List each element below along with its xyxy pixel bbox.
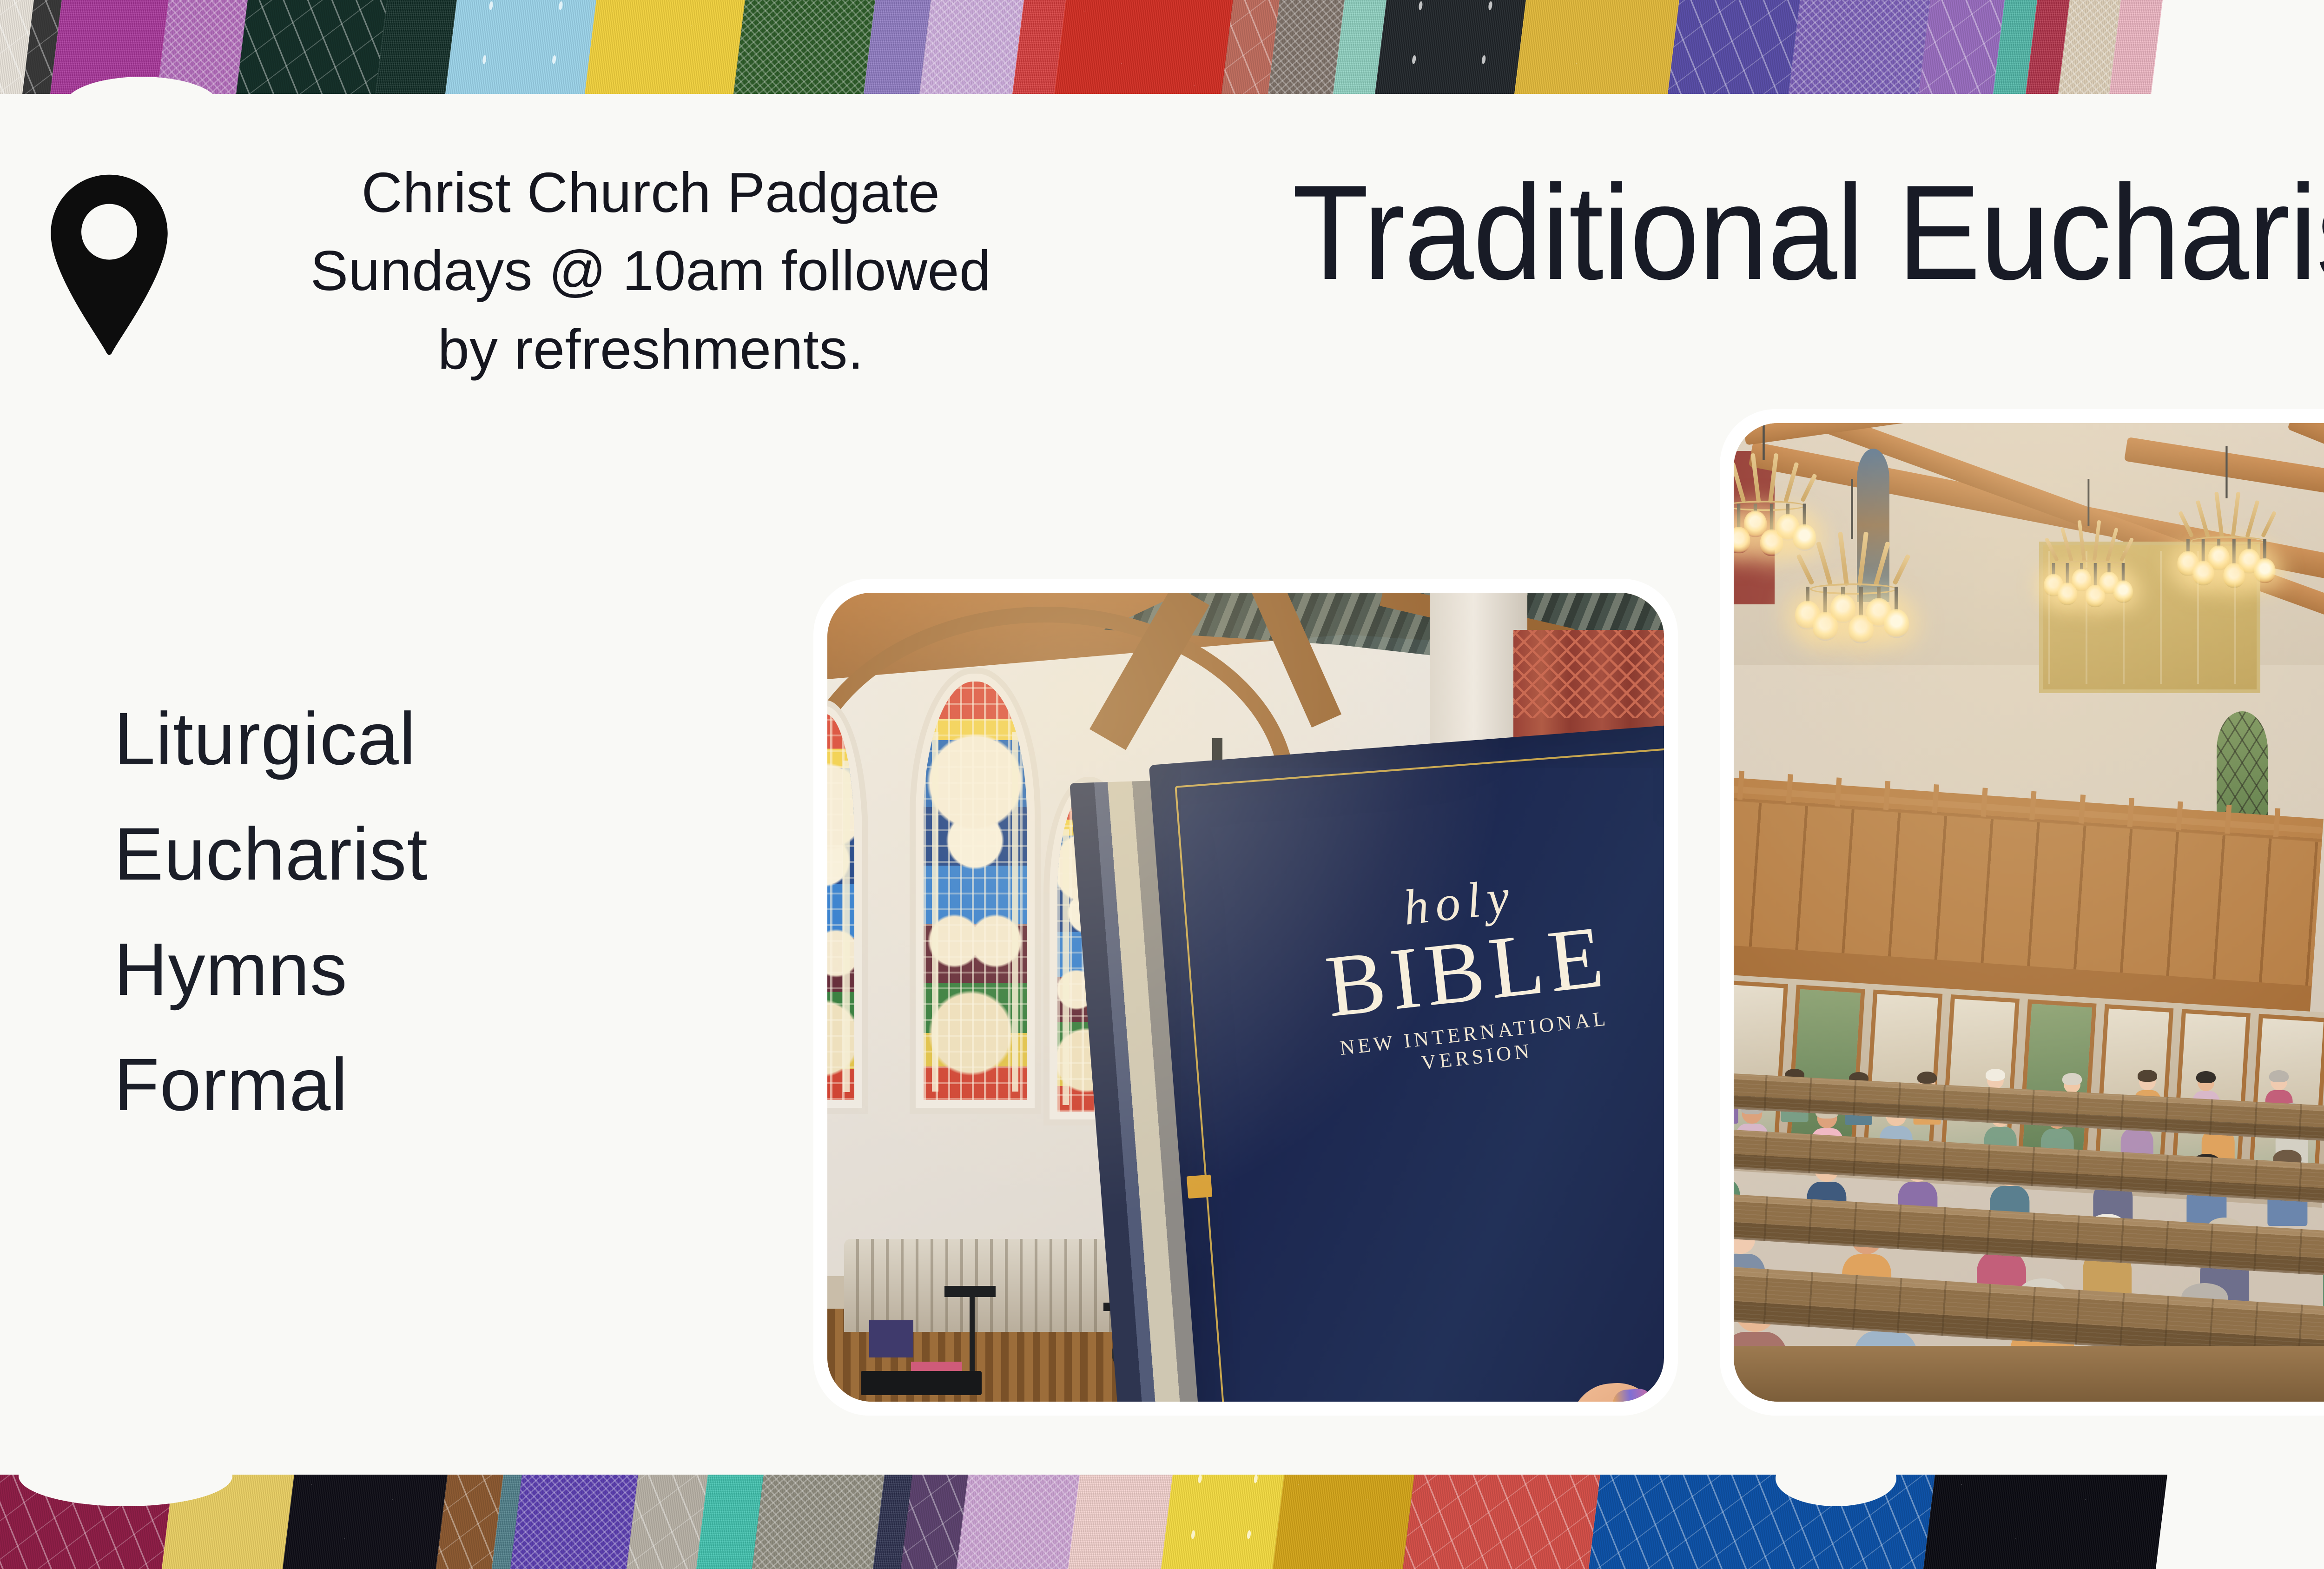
quilt-strip	[442, 0, 599, 94]
stained-glass-window-crucifixion	[924, 682, 1027, 1100]
top-decorative-band	[0, 0, 2324, 94]
bible-photo-card: holy BIBLE NEW INTERNATIONAL VERSION	[813, 579, 1678, 1416]
light-bulb	[1877, 587, 1881, 602]
decor-arc-bottom-left	[19, 1446, 232, 1506]
light-bulb	[1802, 503, 1806, 528]
quilt-strip	[1051, 0, 1235, 94]
quilt-strips-bottom	[0, 1475, 2324, 1569]
light-bulb	[1859, 587, 1863, 619]
light-bulb	[2186, 539, 2190, 555]
venue-line-2: Sundays @ 10am followed	[186, 232, 1116, 310]
light-bulb	[2263, 539, 2266, 563]
quilt-strip	[1065, 1475, 1175, 1569]
holy-bible-book: holy BIBLE NEW INTERNATIONAL VERSION	[1069, 724, 1664, 1402]
light-bulbs	[1798, 587, 1905, 619]
light-bulb	[2052, 563, 2055, 577]
quilt-strip	[1400, 1475, 1603, 1569]
balcony-panel	[1734, 809, 1753, 942]
quilt-strip	[233, 0, 390, 94]
light-bulb	[1806, 587, 1809, 605]
pendant-crown	[2180, 490, 2272, 538]
light-bulb	[1770, 503, 1773, 533]
light-bulbs	[2180, 539, 2272, 567]
feature-item-4: Formal	[114, 1027, 765, 1142]
quilt-strip	[280, 1475, 450, 1569]
venue-details: Christ Church Padgate Sundays @ 10am fol…	[186, 153, 1116, 388]
person-hair	[2138, 1070, 2157, 1082]
music-stand-top	[944, 1286, 996, 1297]
balcony-panel	[2055, 834, 2099, 966]
decor-arc-top-right	[2147, 79, 2250, 130]
balcony-panel	[2227, 846, 2271, 978]
quilt-strip	[624, 1475, 711, 1569]
balcony-panel	[1882, 821, 1926, 954]
quilt-strip	[1158, 1475, 1287, 1569]
quilt-strip	[731, 0, 878, 94]
feature-list: Liturgical Eucharist Hymns Formal	[114, 681, 765, 1142]
light-bulb	[2232, 539, 2236, 567]
feature-item-1: Liturgical	[114, 681, 765, 796]
book-title-block: holy BIBLE NEW INTERNATIONAL VERSION	[1264, 855, 1664, 1090]
person-hair	[2062, 1073, 2082, 1085]
poster-canvas: Christ Church Padgate Sundays @ 10am fol…	[0, 0, 2324, 1569]
light-bulb	[2066, 563, 2069, 586]
balcony-panel	[1796, 815, 1840, 948]
decor-arc-top-left	[65, 77, 218, 132]
light-bulb	[2108, 563, 2111, 576]
pendant-crown	[2047, 519, 2130, 563]
quilt-strip	[1512, 0, 1682, 94]
venue-line-1: Christ Church Padgate	[186, 153, 1116, 232]
quilt-strip	[373, 0, 459, 94]
bible-photo-scene: holy BIBLE NEW INTERNATIONAL VERSION	[827, 593, 1664, 1402]
book-cover: holy BIBLE NEW INTERNATIONAL VERSION	[1149, 724, 1664, 1402]
quilt-strip	[749, 1475, 887, 1569]
piano-label-kawai	[861, 1371, 982, 1395]
balcony-panel	[2098, 836, 2142, 969]
light-bulb	[2217, 539, 2220, 549]
purple-banner	[869, 1320, 913, 1357]
music-stand	[970, 1290, 975, 1383]
balcony-panel	[2012, 830, 2056, 963]
quilt-strip	[1916, 0, 2007, 94]
person-hair	[2196, 1071, 2216, 1083]
light-bulb	[1895, 587, 1898, 614]
congregation-photo-scene	[1734, 423, 2324, 1402]
map-pin-icon	[42, 172, 177, 358]
light-bulb	[1737, 503, 1740, 531]
quilt-strip	[1270, 1475, 1417, 1569]
person-hair	[1917, 1072, 1937, 1084]
page-title: Traditional Eucharist	[1292, 165, 2324, 300]
quilt-strips-top	[0, 0, 2324, 94]
light-bulb	[1841, 587, 1845, 599]
venue-line-3: by refreshments.	[186, 310, 1116, 388]
light-bulb	[2080, 563, 2083, 572]
bible-photo-frame: holy BIBLE NEW INTERNATIONAL VERSION	[827, 593, 1664, 1402]
light-bulb	[1753, 503, 1756, 515]
light-bulb	[2248, 539, 2251, 553]
stained-glass-window	[827, 714, 854, 1100]
book-subtitle: NEW INTERNATIONAL VERSION	[1280, 1000, 1664, 1090]
bottom-decorative-band	[0, 1475, 2324, 1569]
quilt-strip	[582, 0, 747, 94]
balcony-panel	[1752, 812, 1796, 945]
balcony-panel	[2185, 842, 2229, 975]
balcony-panel	[2141, 840, 2185, 972]
book-gold-rule	[1175, 748, 1664, 1402]
congregation-photo-card	[1720, 409, 2324, 1416]
quilt-strip	[1786, 0, 1933, 94]
light-bulb	[2122, 563, 2125, 584]
quilt-strip	[1372, 0, 1528, 94]
quilt-strip	[917, 0, 1026, 94]
book-title-main: BIBLE	[1269, 905, 1664, 1038]
book-sticker	[1187, 1174, 1213, 1198]
congregation-photo-frame	[1734, 423, 2324, 1402]
person-hair	[1986, 1069, 2005, 1081]
person-hair	[2269, 1070, 2289, 1082]
church-floor	[1734, 1346, 2324, 1402]
feature-item-2: Eucharist	[114, 796, 765, 912]
quilt-strip	[1921, 1475, 2170, 1569]
light-bulb	[2202, 539, 2205, 565]
pendant-crown	[1798, 530, 1905, 586]
balcony-panel	[1925, 824, 1969, 957]
book-title-script: holy	[1264, 855, 1655, 948]
light-bulb	[1786, 503, 1789, 518]
balcony-panel	[2271, 848, 2315, 981]
quilt-strip	[508, 1475, 641, 1569]
light-bulb	[1823, 587, 1827, 616]
pendant-crown	[1734, 451, 1812, 503]
feature-item-3: Hymns	[114, 912, 765, 1027]
light-bulbs	[2047, 563, 2130, 589]
decor-arc-bottom-middle	[1776, 1450, 1896, 1506]
quilt-strip	[1665, 0, 1802, 94]
balcony-panel	[1968, 828, 2013, 960]
balcony-panel	[1839, 818, 1883, 951]
light-bulbs	[1734, 503, 1812, 533]
quilt-strip	[954, 1475, 1083, 1569]
light-bulb	[2094, 563, 2097, 589]
